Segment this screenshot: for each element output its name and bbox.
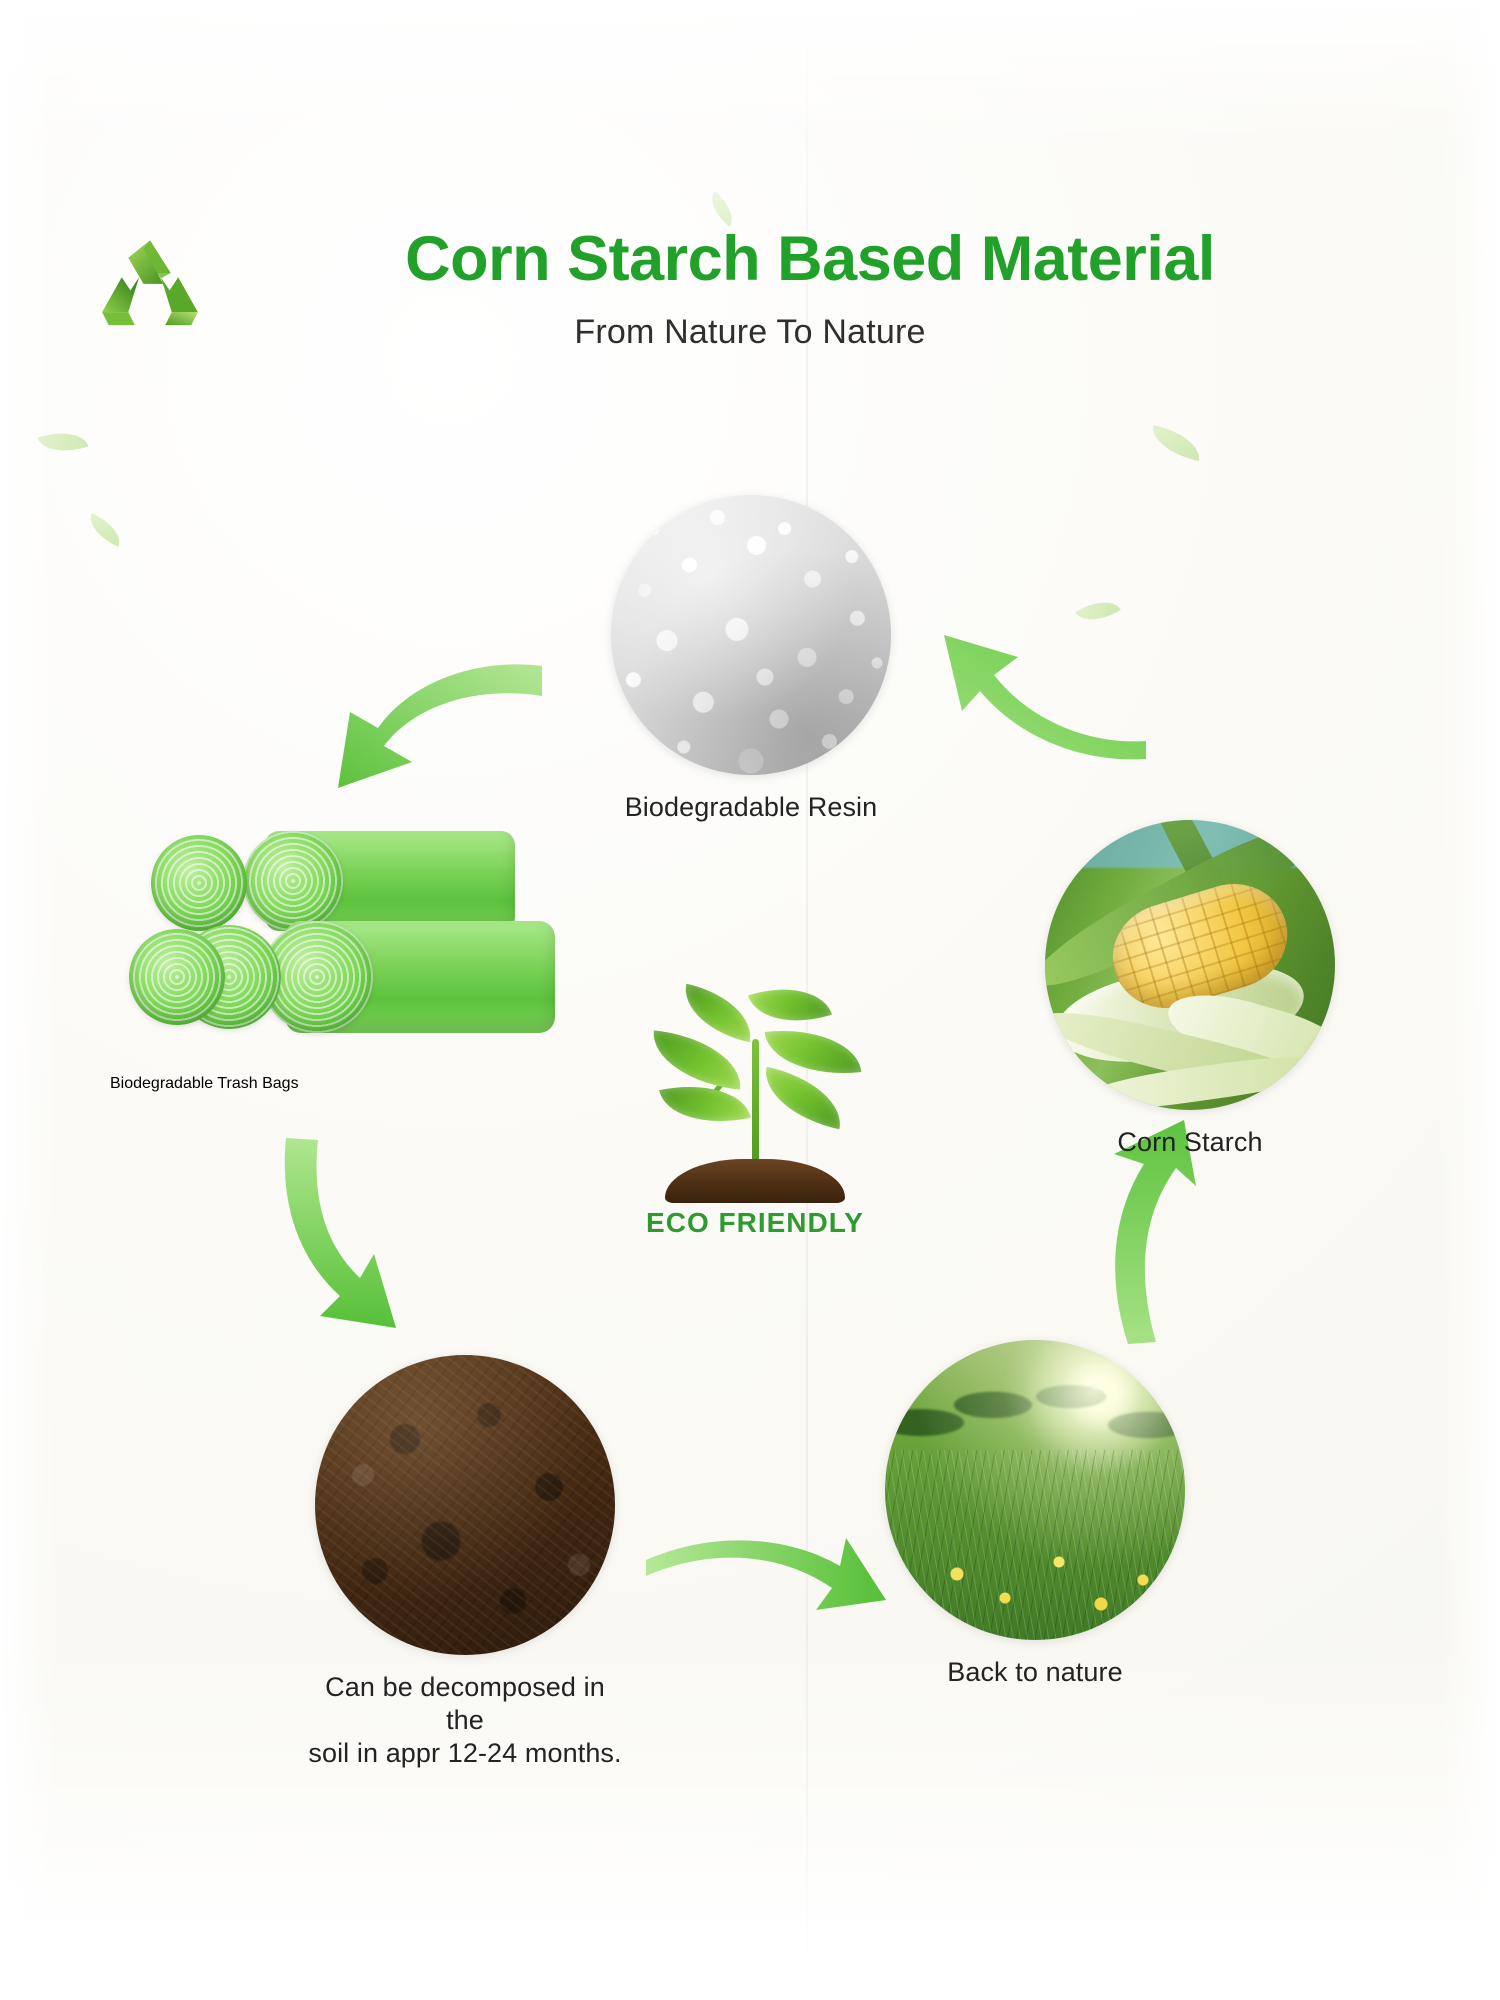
plastic-pellets-photo [611,495,891,775]
node-biodegradable-trash-bags: Biodegradable Trash Bags [110,825,570,1093]
resin-caption: Biodegradable Resin [596,791,906,824]
decorative-leaf-icon [1148,425,1204,461]
paper-edge-bottom [0,1640,1500,2000]
node-decompose-soil: Can be decomposed in the soil in appr 12… [305,1355,625,1770]
page-title: Corn Starch Based Material [0,228,1500,291]
infographic-page: Corn Starch Based Material From Nature T… [0,0,1500,2000]
paper-edge-top [0,0,1500,150]
pellet-shading-overlay [611,495,891,775]
bag-roll-end [151,835,247,931]
node-biodegradable-resin: Biodegradable Resin [596,495,906,824]
corn-caption: Corn Starch [1040,1126,1340,1159]
wildflowers [885,1340,1185,1640]
sprout-plant-icon [635,965,875,1205]
bag-roll-end [243,831,343,931]
bags-caption: Biodegradable Trash Bags [110,1075,570,1093]
soil-mound-icon [665,1159,845,1203]
infographic-canvas: Corn Starch Based Material From Nature T… [0,0,1500,2000]
plant-leaf-icon [748,973,832,1038]
recycle-icon [95,236,205,336]
node-back-to-nature: Back to nature [875,1340,1195,1689]
eco-friendly-label: ECO FRIENDLY [615,1207,895,1239]
soil-photo [315,1355,615,1655]
decorative-leaf-icon [84,513,127,547]
page-subtitle: From Nature To Nature [0,313,1500,352]
plant-leaf-icon [649,1030,746,1089]
node-corn-starch: Corn Starch [1040,820,1340,1159]
arrow-corn-to-resin [940,635,1160,785]
arrow-bags-to-soil [262,1130,412,1350]
header: Corn Starch Based Material From Nature T… [0,228,1500,352]
corn-cob-photo [1045,820,1335,1110]
plant-stem [752,1039,759,1167]
meadow-caption: Back to nature [875,1656,1195,1689]
decorative-leaf-icon [1075,591,1121,631]
soil-caption: Can be decomposed in the soil in appr 12… [305,1671,625,1770]
soil-highlight-overlay [315,1355,615,1655]
plant-leaf-icon [677,984,759,1042]
bag-roll-end [129,929,225,1025]
plant-leaf-icon [757,1067,849,1129]
arrow-soil-to-meadow [640,1530,890,1650]
arrow-resin-to-bags [320,650,550,810]
node-eco-friendly: ECO FRIENDLY [615,965,895,1239]
decorative-leaf-icon [703,191,741,227]
meadow-photo [885,1340,1185,1640]
green-trash-bag-rolls [125,825,555,1055]
